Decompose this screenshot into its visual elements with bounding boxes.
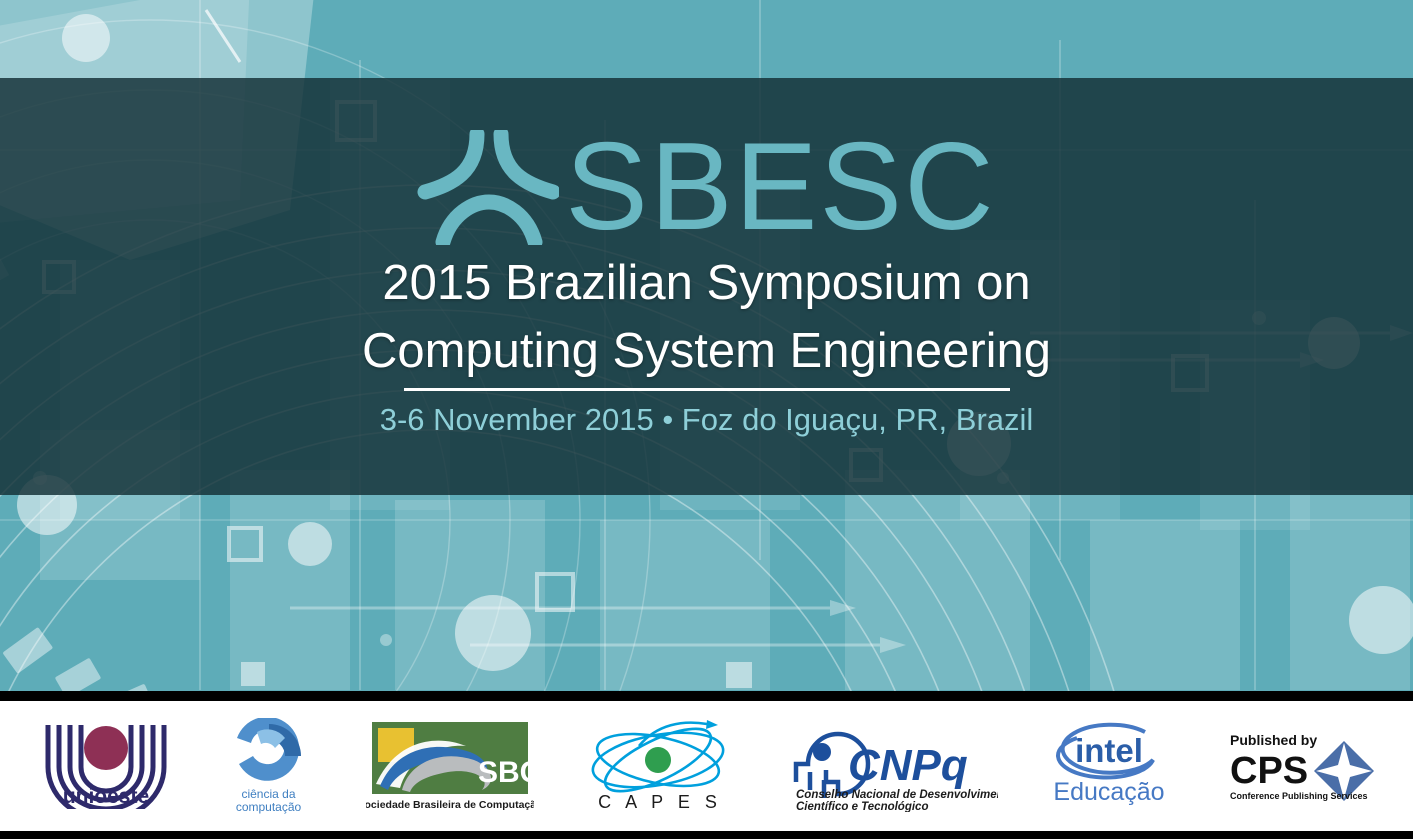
sbesc-wordmark: SBESC [565,130,995,245]
unioeste-wordmark: unioeste [62,785,148,808]
capes-wordmark: C A P E S [598,792,722,812]
sponsor-capes[interactable]: C A P E S [585,716,735,816]
intel-educacao-logo-icon: intel Educação [1049,720,1171,812]
sponsor-ciencia-da-computacao[interactable]: ciência da computação [223,718,315,814]
title-underline-rule [404,388,1010,391]
conference-title-line2: Computing System Engineering [0,321,1413,381]
sponsor-sbc[interactable]: SBC Sociedade Brasileira de Computação [366,718,534,814]
sponsor-unioeste[interactable]: unioeste [40,723,172,809]
cps-caption: Conference Publishing Services [1230,791,1368,801]
cnpq-logo-icon: CNPq Conselho Nacional de Desenvolviment… [786,720,998,812]
unioeste-logo-icon: unioeste [40,723,172,809]
banner-content: SBESC 2015 Brazilian Symposium on Comput… [0,130,1413,439]
cps-published-by: Published by [1230,732,1317,748]
sbesc-logo-lockup: SBESC [0,130,1413,245]
black-divider-bar-bottom [0,831,1413,839]
sbc-caption: Sociedade Brasileira de Computação [366,799,534,811]
black-divider-bar-top [0,691,1413,701]
sbc-logo-icon: SBC Sociedade Brasileira de Computação [366,718,534,814]
cnpq-wordmark: CNPq [848,741,968,790]
conference-title-line1: 2015 Brazilian Symposium on [0,253,1413,313]
ciencia-caption-line2: computação [236,801,301,814]
cnpq-caption-line2: Científico e Tecnológico [796,801,928,812]
sponsor-logo-strip: unioeste ciência da computação [0,701,1413,831]
capes-logo-icon: C A P E S [585,716,735,816]
sponsor-cnpq[interactable]: CNPq Conselho Nacional de Desenvolviment… [786,720,998,812]
cps-wordmark: CPS [1230,750,1308,792]
sponsor-intel-educacao[interactable]: intel Educação [1049,720,1171,812]
cnpq-caption-line1: Conselho Nacional de Desenvolvimento [796,789,998,801]
intel-wordmark: intel [1075,732,1143,769]
cps-logo-icon: Published by CPS Conference Publishing S… [1222,725,1374,807]
sponsor-cps[interactable]: Published by CPS Conference Publishing S… [1222,725,1374,807]
sbesc-conference-banner: SBESC 2015 Brazilian Symposium on Comput… [0,0,1413,839]
sbc-wordmark: SBC [478,756,534,789]
ciencia-computacao-swirl-icon [223,718,315,788]
sbesc-trefoil-mark-icon [417,130,559,245]
conference-date-location: 3-6 November 2015 • Foz do Iguaçu, PR, B… [0,401,1413,439]
intel-educacao-caption: Educação [1053,778,1164,806]
